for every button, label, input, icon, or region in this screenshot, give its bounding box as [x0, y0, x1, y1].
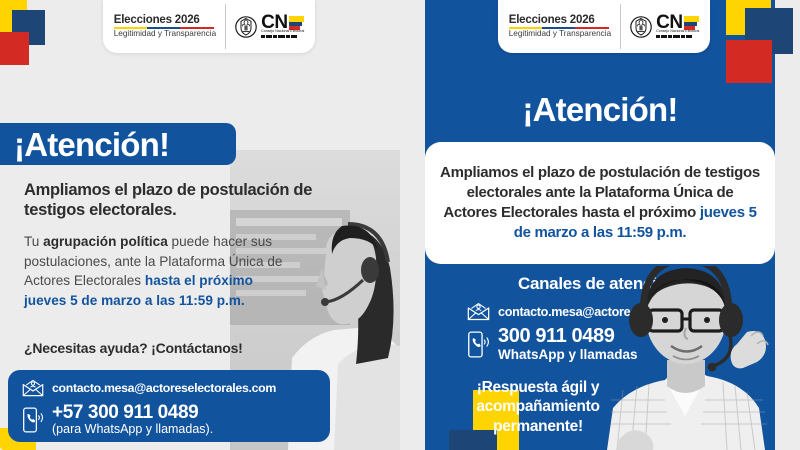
- elecciones-lockup-left: Elecciones 2026 Legitimidad y Transparen…: [114, 14, 216, 39]
- message-card-text-right: Ampliamos el plazo de postulación de tes…: [425, 163, 775, 243]
- cne-flag-icon-right: [684, 16, 699, 30]
- cne-wordmark-left: CN: [261, 15, 287, 31]
- cne-caption-right: Consejo Nacional Electoral: [656, 30, 699, 34]
- decor-square-red-tl: [0, 32, 29, 65]
- cne-bar: [273, 35, 277, 38]
- elecciones-lockup-right: Elecciones 2026 Legitimidad y Transparen…: [509, 14, 611, 39]
- cne-caption-left: Consejo Nacional Electoral: [261, 30, 304, 34]
- closing-slogan-right: ¡Respuesta ágil y acompañamiento permane…: [443, 378, 633, 436]
- cne-bar: [291, 35, 297, 38]
- cne-mark-right: CN Consejo Nacional Electoral: [656, 15, 699, 38]
- envelope-with-person-icon: [22, 379, 44, 397]
- attention-banner-label-left: ¡Atención!: [14, 128, 169, 161]
- cne-bar: [261, 35, 265, 38]
- cne-bar: [673, 35, 680, 38]
- cne-bar: [686, 35, 692, 38]
- elecciones-title-right: Elecciones 2026: [509, 14, 595, 26]
- cne-decorative-bars-right: [656, 35, 692, 38]
- cne-mark-left: CN Consejo Nacional Electoral: [261, 15, 304, 38]
- body-part-1: Tu: [24, 234, 43, 249]
- cne-bar: [681, 35, 685, 38]
- right-poster-panel: ¡Atención! Elecciones 2026 Legitimidad y…: [400, 0, 800, 450]
- contact-box-left: contacto.mesa@actoreselectorales.com +57…: [8, 370, 330, 442]
- envelope-with-person-icon: [467, 302, 490, 321]
- contact-phone-note-left: (para WhatsApp y llamadas).: [52, 423, 213, 437]
- attention-banner-label-right: ¡Atención!: [522, 93, 677, 126]
- cne-bar: [668, 35, 672, 38]
- cne-lockup-right: CN Consejo Nacional Electoral: [630, 14, 699, 40]
- cne-decorative-bars-left: [261, 35, 297, 38]
- message-card-right: Ampliamos el plazo de postulación de tes…: [425, 142, 775, 264]
- contact-phone-block-left: +57 300 911 0489 (para WhatsApp y llamad…: [52, 403, 213, 437]
- contact-email-left: contacto.mesa@actoreselectorales.com: [52, 381, 276, 395]
- cne-bar: [286, 35, 290, 38]
- smartphone-call-icon: [22, 406, 44, 434]
- cne-bar: [656, 35, 660, 38]
- cne-bar: [266, 35, 272, 38]
- elecciones-subtitle-left: Legitimidad y Transparencia: [114, 30, 216, 39]
- smartphone-call-icon: [467, 330, 490, 359]
- logo-divider-right: [620, 4, 621, 49]
- cne-lockup-left: CN Consejo Nacional Electoral: [235, 14, 304, 40]
- help-prompt-left: ¿Necesitas ayuda? ¡Contáctanos!: [24, 340, 243, 356]
- contact-phone-row-left[interactable]: +57 300 911 0489 (para WhatsApp y llamad…: [22, 403, 213, 437]
- cne-wordmark-row-left: CN: [261, 15, 303, 31]
- headline-left: Ampliamos el plazo de postulación de tes…: [24, 180, 334, 220]
- cne-wordmark-right: CN: [656, 15, 682, 31]
- elecciones-title-left: Elecciones 2026: [114, 14, 200, 26]
- logo-card-right: Elecciones 2026 Legitimidad y Transparen…: [498, 0, 710, 53]
- attention-banner-left: ¡Atención!: [0, 123, 236, 165]
- cne-bar: [278, 35, 285, 38]
- colombia-coat-of-arms-icon: [630, 14, 652, 40]
- logo-divider-left: [225, 4, 226, 49]
- contact-phone-left: +57 300 911 0489: [52, 403, 213, 423]
- cne-wordmark-row-right: CN: [656, 15, 698, 31]
- colombia-coat-of-arms-icon: [235, 14, 257, 40]
- body-part-2-bold: agrupación política: [43, 234, 168, 249]
- channels-card-right: Canales de atención: contacto.mesa@actor…: [425, 266, 775, 450]
- elecciones-subtitle-right: Legitimidad y Transparencia: [509, 30, 611, 39]
- logo-card-left: Elecciones 2026 Legitimidad y Transparen…: [103, 0, 315, 53]
- left-poster-panel: Elecciones 2026 Legitimidad y Transparen…: [0, 0, 400, 450]
- poster-canvas: Elecciones 2026 Legitimidad y Transparen…: [0, 0, 800, 450]
- cne-bar: [661, 35, 667, 38]
- cne-flag-icon-left: [289, 16, 304, 30]
- decor-square-red-tr: [726, 40, 772, 83]
- contact-email-row-left[interactable]: contacto.mesa@actoreselectorales.com: [22, 379, 276, 397]
- body-copy-left: Tu agrupación política puede hacer sus p…: [24, 232, 294, 311]
